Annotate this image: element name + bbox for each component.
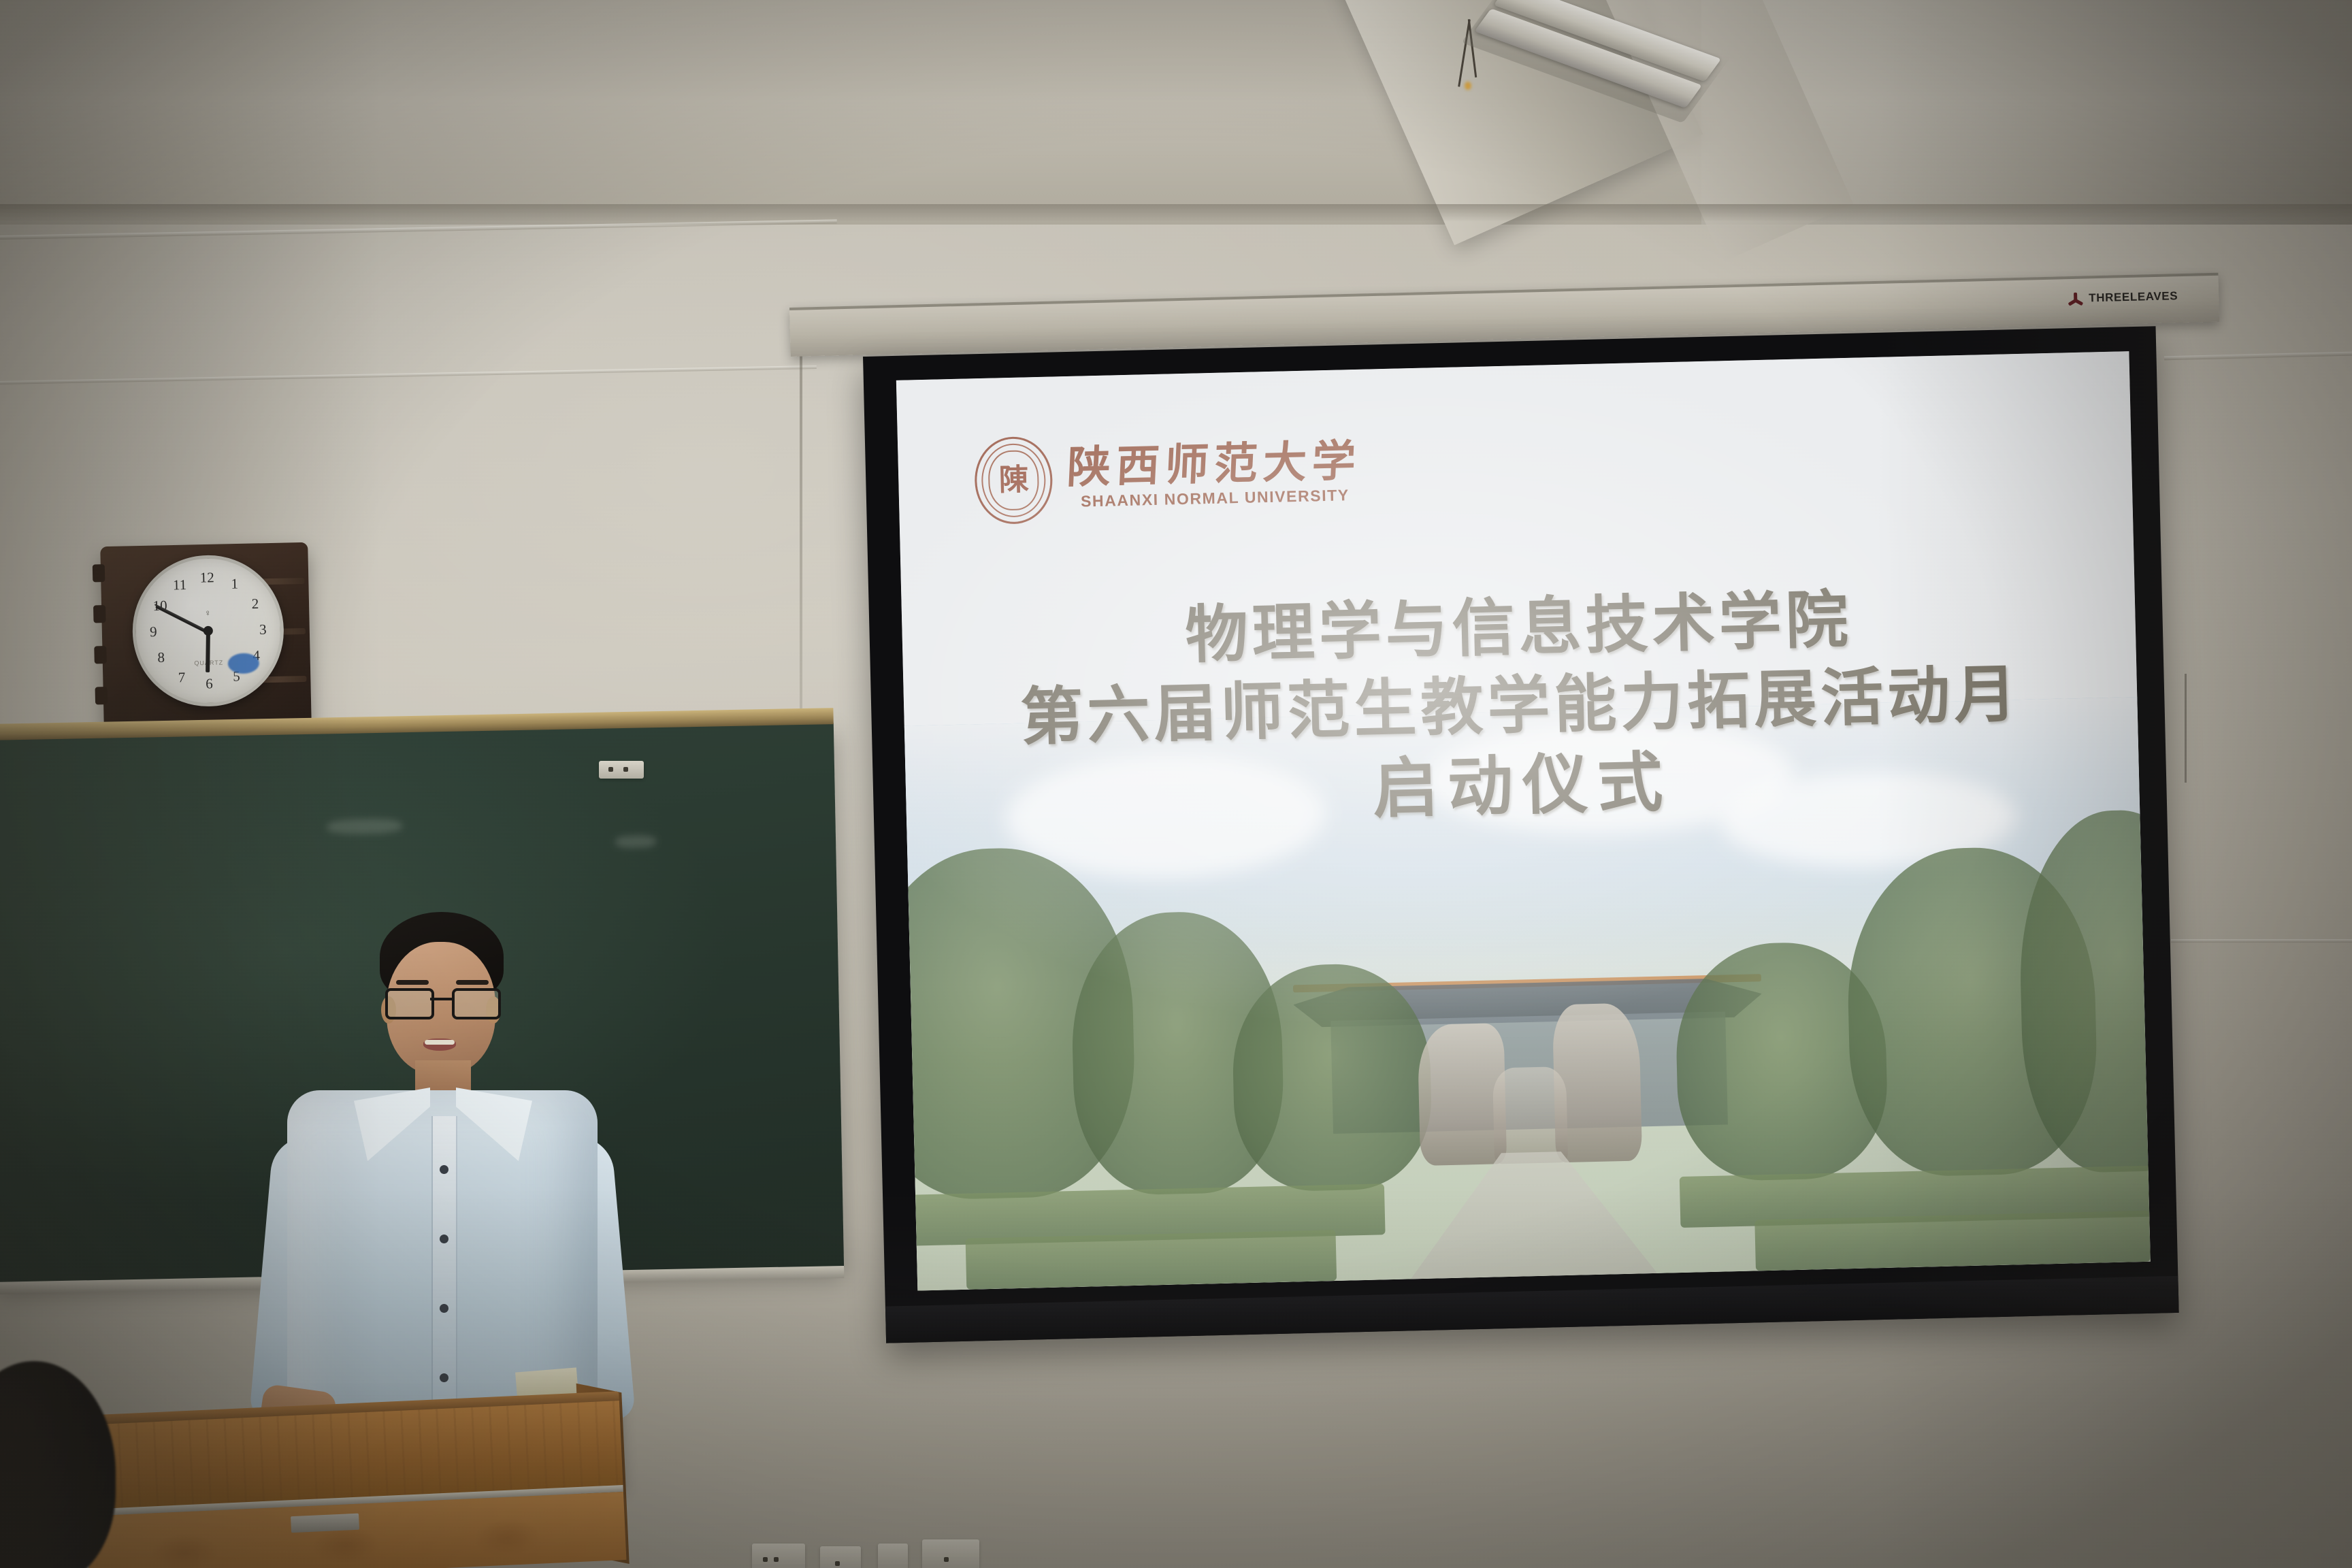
glasses-icon [385, 988, 498, 1015]
seal-glyph: 陳 [998, 465, 1029, 495]
university-seal-icon: 陳 [974, 436, 1053, 525]
wall-shadow-bottom [0, 1187, 2352, 1568]
slide-title-line-1: 物理学与信息技术学院 [1185, 585, 1853, 668]
slide-title-line-2: 第六届师范生教学能力拓展活动月 [1019, 660, 2021, 751]
shirt-button [440, 1165, 448, 1174]
presenter-eyebrow-right [456, 980, 489, 985]
slide-title-line-3: 启动仪式 [1372, 747, 1673, 824]
university-logo: 陳 陕西师范大学 SHAANXI NORMAL UNIVERSITY [974, 429, 1362, 525]
light-bulb-glow-icon [1465, 82, 1471, 90]
presenter-eyebrow-left [396, 980, 429, 985]
photo-rock-sculpture [1492, 1066, 1569, 1164]
photo-tree [1230, 962, 1433, 1193]
classroom-photo-scene: 12 1 2 3 4 5 6 7 8 9 10 11 ♀ QUARTZ THRE… [0, 0, 2352, 1568]
presenter-teeth [425, 1040, 455, 1045]
university-name-chinese: 陕西师范大学 [1066, 440, 1362, 490]
wall-power-socket-upper[interactable] [599, 761, 644, 779]
university-name-block: 陕西师范大学 SHAANXI NORMAL UNIVERSITY [1067, 440, 1362, 511]
chalk-smudge [615, 835, 656, 848]
